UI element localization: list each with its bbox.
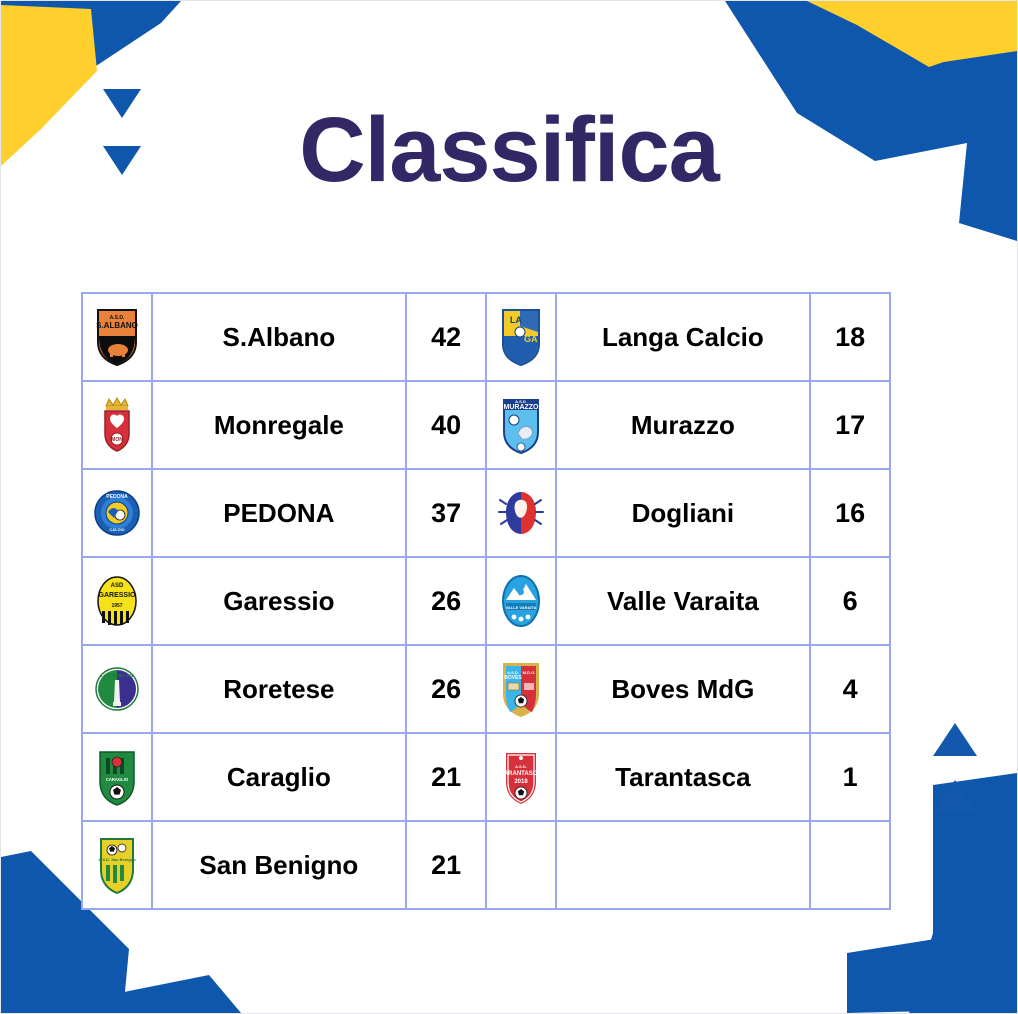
points-cell: 26 bbox=[406, 557, 486, 645]
svg-text:GA: GA bbox=[524, 334, 538, 344]
team-crest-cell: VALLE VARAITA bbox=[486, 557, 556, 645]
team-crest-cell: A.S.D. MURAZZO bbox=[486, 381, 556, 469]
svg-text:A.S.D.: A.S.D. bbox=[515, 764, 527, 769]
team-name-cell-empty bbox=[556, 821, 811, 909]
points-cell: 18 bbox=[810, 293, 890, 381]
team-name-cell: Dogliani bbox=[556, 469, 811, 557]
svg-text:PEDONA: PEDONA bbox=[106, 494, 128, 500]
team-name: Monregale bbox=[153, 410, 406, 441]
points-cell: 1 bbox=[810, 733, 890, 821]
points-cell: 26 bbox=[406, 645, 486, 733]
team-name: Tarantasca bbox=[557, 762, 810, 793]
points-cell: 17 bbox=[810, 381, 890, 469]
svg-text:A.S.D. San Benigno: A.S.D. San Benigno bbox=[98, 857, 136, 862]
svg-text:MON: MON bbox=[111, 437, 123, 443]
table-row: ASD GARESSIO 1957 bbox=[82, 557, 890, 645]
team-name-cell: S.Albano bbox=[152, 293, 407, 381]
svg-text:2018: 2018 bbox=[514, 779, 528, 785]
team-name: S.Albano bbox=[153, 322, 406, 353]
team-name-cell: Langa Calcio bbox=[556, 293, 811, 381]
team-crest-cell: A.S.D. RORETESE bbox=[82, 645, 152, 733]
svg-text:TARANTASCA: TARANTASCA bbox=[500, 771, 541, 777]
table-row: CARAGLIO Caraglio 21 bbox=[82, 733, 890, 821]
points-cell: 4 bbox=[810, 645, 890, 733]
roretese-crest: A.S.D. RORETESE bbox=[94, 658, 140, 720]
table-row: A.S.D. RORETESE Roretese 26 A.S.D. bbox=[82, 645, 890, 733]
team-name-cell: Valle Varaita bbox=[556, 557, 811, 645]
team-crest-cell: A.S.D. San Benigno bbox=[82, 821, 152, 909]
san-benigno-crest: A.S.D. San Benigno bbox=[94, 834, 140, 896]
points-cell: 6 bbox=[810, 557, 890, 645]
monregale-crest: MON bbox=[94, 394, 140, 456]
table-row: MON Monregale 40 A.S.D. MURAZZO bbox=[82, 381, 890, 469]
murazzo-crest: A.S.D. MURAZZO bbox=[498, 394, 544, 456]
team-crest-cell: ASD GARESSIO 1957 bbox=[82, 557, 152, 645]
team-name-cell: San Benigno bbox=[152, 821, 407, 909]
svg-text:CALCIO: CALCIO bbox=[109, 527, 124, 532]
team-name: Dogliani bbox=[557, 498, 810, 529]
team-crest-cell: LA GA bbox=[486, 293, 556, 381]
points-cell: 21 bbox=[406, 733, 486, 821]
team-name-cell: PEDONA bbox=[152, 469, 407, 557]
triangle-up-icon bbox=[933, 723, 977, 756]
svg-text:LA: LA bbox=[510, 315, 522, 325]
valle-varaita-crest: VALLE VARAITA bbox=[498, 570, 544, 632]
team-crest-cell: A.S.D. TARANTASCA 2018 bbox=[486, 733, 556, 821]
team-name: Valle Varaita bbox=[557, 586, 810, 617]
team-name: Boves MdG bbox=[557, 674, 810, 705]
tarantasca-crest: A.S.D. TARANTASCA 2018 bbox=[498, 746, 544, 808]
triangle-up-icon bbox=[933, 780, 977, 813]
svg-text:MURAZZO: MURAZZO bbox=[503, 404, 539, 411]
svg-text:BOVES: BOVES bbox=[504, 675, 522, 681]
team-name: Roretese bbox=[153, 674, 406, 705]
page-title: Classifica bbox=[1, 104, 1017, 196]
points-cell: 42 bbox=[406, 293, 486, 381]
team-crest-cell: CARAGLIO bbox=[82, 733, 152, 821]
team-name-cell: Murazzo bbox=[556, 381, 811, 469]
table-row: A.S.D. S.ALBANO S.Albano 42 bbox=[82, 293, 890, 381]
team-crest-cell: A.S.D. BOVES M.D.G. bbox=[486, 645, 556, 733]
team-name: San Benigno bbox=[153, 850, 406, 881]
team-name: Caraglio bbox=[153, 762, 406, 793]
team-name: Murazzo bbox=[557, 410, 810, 441]
points-cell: 21 bbox=[406, 821, 486, 909]
svg-text:1957: 1957 bbox=[111, 603, 122, 609]
svg-text:ASD: ASD bbox=[110, 583, 123, 589]
svg-text:S.ALBANO: S.ALBANO bbox=[96, 321, 138, 330]
team-crest-cell: MON bbox=[82, 381, 152, 469]
svg-text:VALLE VARAITA: VALLE VARAITA bbox=[505, 605, 536, 610]
team-name: Langa Calcio bbox=[557, 322, 810, 353]
garessio-crest: ASD GARESSIO 1957 bbox=[94, 570, 140, 632]
svg-text:CARAGLIO: CARAGLIO bbox=[106, 777, 129, 782]
team-crest-cell: A.S.D. S.ALBANO bbox=[82, 293, 152, 381]
caraglio-crest: CARAGLIO bbox=[94, 746, 140, 808]
points-cell-empty bbox=[810, 821, 890, 909]
langa-calcio-crest: LA GA bbox=[498, 306, 544, 368]
team-crest-cell: PEDONA CALCIO bbox=[82, 469, 152, 557]
svg-text:A.S.D. RORETESE: A.S.D. RORETESE bbox=[99, 673, 134, 678]
table-row: A.S.D. San Benigno San Benigno 21 bbox=[82, 821, 890, 909]
boves-mdg-crest: A.S.D. BOVES M.D.G. bbox=[498, 658, 544, 720]
points-cell: 16 bbox=[810, 469, 890, 557]
standings-slide: Classifica A.S.D. S.ALBANO bbox=[0, 0, 1018, 1014]
team-name-cell: Monregale bbox=[152, 381, 407, 469]
team-crest-cell-empty bbox=[486, 821, 556, 909]
team-name-cell: Tarantasca bbox=[556, 733, 811, 821]
svg-text:M.D.G.: M.D.G. bbox=[522, 670, 535, 675]
points-cell: 40 bbox=[406, 381, 486, 469]
team-name-cell: Roretese bbox=[152, 645, 407, 733]
team-name: Garessio bbox=[153, 586, 406, 617]
standings-table: A.S.D. S.ALBANO S.Albano 42 bbox=[81, 292, 891, 910]
table-row: PEDONA CALCIO PEDONA 37 bbox=[82, 469, 890, 557]
santalbano-crest: A.S.D. S.ALBANO bbox=[94, 306, 140, 368]
points-cell: 37 bbox=[406, 469, 486, 557]
team-crest-cell bbox=[486, 469, 556, 557]
team-name-cell: Caraglio bbox=[152, 733, 407, 821]
pedona-crest: PEDONA CALCIO bbox=[94, 482, 140, 544]
team-name: PEDONA bbox=[153, 498, 406, 529]
dogliani-crest bbox=[498, 482, 544, 544]
svg-text:GARESSIO: GARESSIO bbox=[98, 592, 136, 599]
team-name-cell: Garessio bbox=[152, 557, 407, 645]
team-name-cell: Boves MdG bbox=[556, 645, 811, 733]
